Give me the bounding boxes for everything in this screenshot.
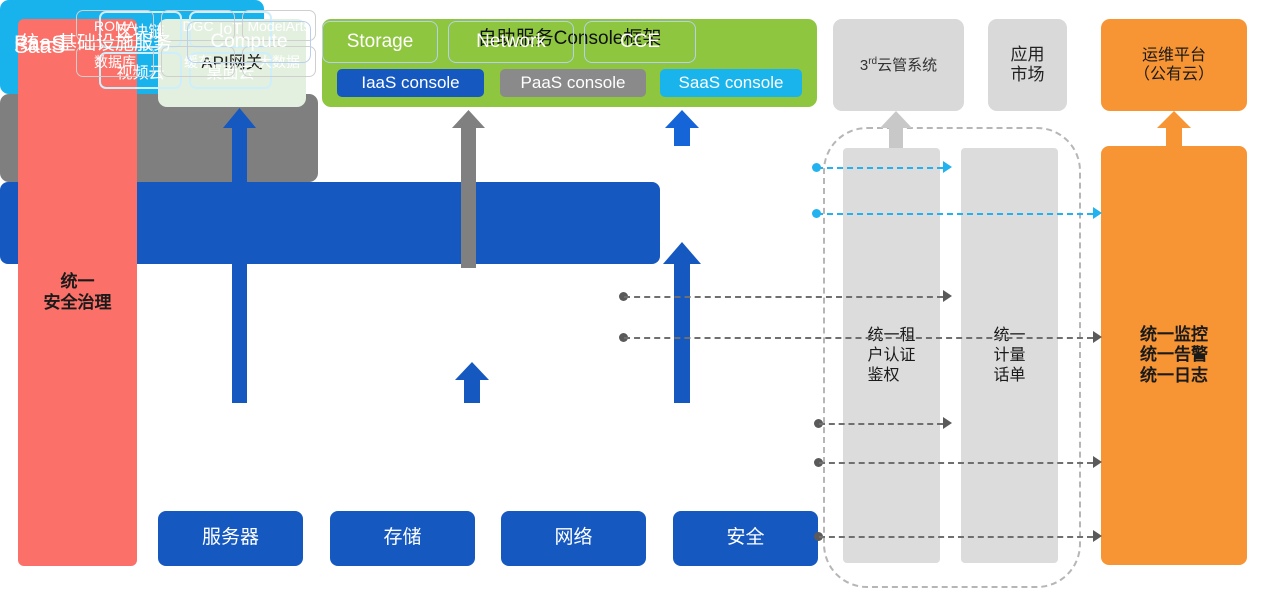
arrow-infra-to-api-gateway [223,108,256,403]
arrow-layer [0,0,1265,605]
connector-hardware-to-ops [819,536,1093,538]
connector-arrowhead-paas-ops [1093,331,1102,343]
arrow-shared-to-third-party [880,111,912,148]
arrow-infra-to-paas [455,362,489,403]
connector-infra-to-metering [819,423,943,425]
connector-paas-to-tenant-auth [624,296,943,298]
connector-infra-to-ops [819,462,1093,464]
connector-saas-to-ops [817,213,1093,215]
connector-arrowhead-saas-ops [1093,207,1102,219]
arrow-infra-to-saas [663,242,701,403]
connector-arrowhead-paas-auth [943,290,952,302]
arrow-paas-to-paas-console [452,110,485,268]
connector-arrowhead-saas-auth [943,161,952,173]
connector-arrowhead-hardware-ops [1093,530,1102,542]
architecture-diagram: 统一 安全治理 API网关 自助服务Console框架 IaaS console… [0,0,1265,605]
connector-saas-to-tenant-auth [817,167,943,169]
connector-arrowhead-infra-ops [1093,456,1102,468]
arrow-ops-column-to-ops-platform [1157,111,1191,146]
connector-arrowhead-infra-metering [943,417,952,429]
arrow-saas-to-saas-console [665,110,699,146]
connector-paas-to-ops [624,337,1093,339]
